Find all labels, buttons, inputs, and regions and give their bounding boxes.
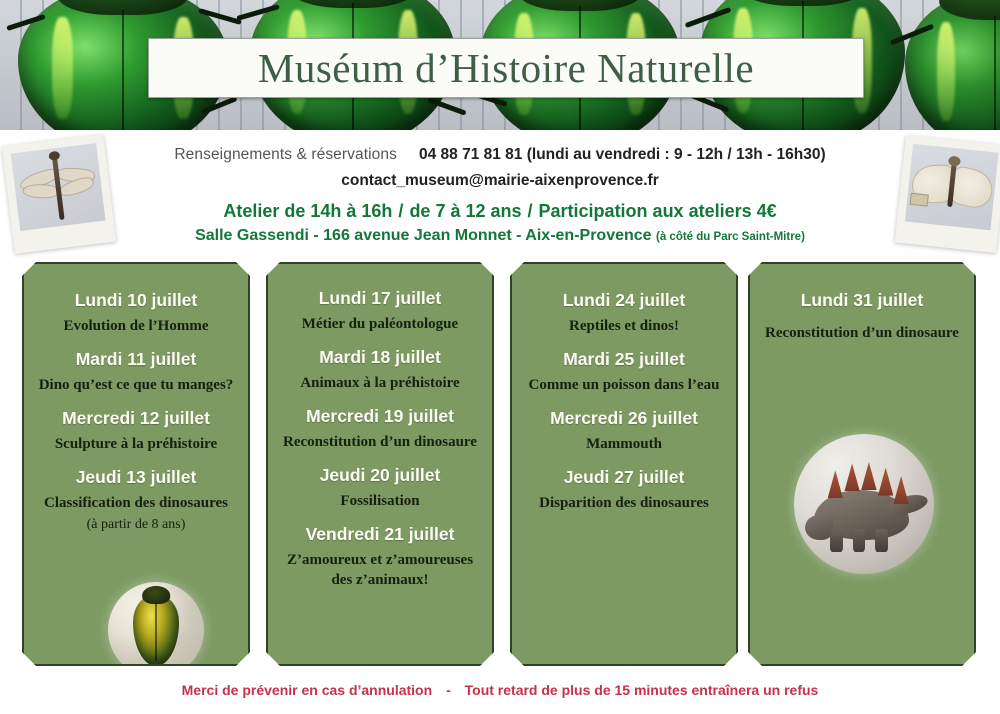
activity-text: Sculpture à la préhistoire	[34, 435, 238, 455]
activity-text: Reconstitution d’un dinosaure	[278, 433, 482, 453]
activity-text: Mammouth	[522, 435, 726, 455]
program-card-week1[interactable]: Lundi 10 juillet Evolution de l’Homme Ma…	[22, 262, 250, 666]
program-card-week2[interactable]: Lundi 17 juillet Métier du paléontologue…	[266, 262, 494, 666]
activity-text: Comme un poisson dans l’eau	[522, 376, 726, 396]
day-heading: Lundi 10 juillet	[34, 290, 238, 310]
workshop-price: Participation aux ateliers 4€	[539, 201, 777, 221]
activity-note: (à partir de 8 ans)	[34, 516, 238, 534]
golden-beetle-circle-photo	[108, 582, 204, 666]
dragonfly-head	[48, 151, 60, 161]
page-title: Muséum d’Histoire Naturelle	[258, 44, 754, 92]
activity-text: Disparition des dinosaures	[522, 494, 726, 514]
moth-photo	[905, 144, 999, 231]
address-note: (à côté du Parc Saint-Mitre)	[656, 231, 805, 243]
day-heading: Mercredi 19 juillet	[278, 406, 482, 426]
contact-line: Renseignements & réservations04 88 71 81…	[0, 146, 1000, 164]
day-heading: Jeudi 20 juillet	[278, 465, 482, 485]
specimen-label-tag	[910, 193, 929, 206]
day-heading: Mardi 25 juillet	[522, 349, 726, 369]
phone-hours: (lundi au vendredi : 9 - 12h / 13h - 16h…	[527, 146, 826, 163]
activity-text: Classification des dinosaures	[34, 494, 238, 514]
activity-text: Reconstitution d’un dinosaure	[760, 324, 964, 344]
activity-text: Reptiles et dinos!	[522, 317, 726, 337]
email-address[interactable]: contact_museum@mairie-aixenprovence.fr	[341, 172, 658, 189]
dragonfly-polaroid	[2, 134, 116, 254]
dinosaur-circle-photo	[794, 434, 934, 574]
dragonfly-photo	[11, 143, 106, 231]
workshop-details-line: Atelier de 14h à 16h/de 7 à 12 ans/Parti…	[0, 201, 1000, 222]
contact-label: Renseignements & réservations	[174, 146, 397, 163]
activity-text: Dino qu’est ce que tu manges?	[34, 376, 238, 396]
info-block: Renseignements & réservations04 88 71 81…	[0, 130, 1000, 260]
day-heading: Lundi 31 juillet	[760, 290, 964, 310]
program-card-week3[interactable]: Lundi 24 juillet Reptiles et dinos! Mard…	[510, 262, 738, 666]
moth-polaroid	[895, 135, 1000, 253]
footer-notice: Merci de prévenir en cas d’annulation - …	[0, 682, 1000, 698]
day-heading: Mercredi 12 juillet	[34, 408, 238, 428]
day-heading: Jeudi 13 juillet	[34, 467, 238, 487]
wing-shape	[22, 184, 59, 200]
address-line: Salle Gassendi - 166 avenue Jean Monnet …	[0, 227, 1000, 245]
age-range: de 7 à 12 ans	[409, 201, 521, 221]
footer-cancellation-text: Merci de prévenir en cas d’annulation	[182, 682, 433, 698]
program-card-week4[interactable]: Lundi 31 juillet Reconstitution d’un din…	[748, 262, 976, 666]
phone-number[interactable]: 04 88 71 81 81	[419, 146, 522, 163]
separator-2: /	[522, 201, 539, 221]
dinosaur-head	[805, 515, 833, 540]
day-heading: Mercredi 26 juillet	[522, 408, 726, 428]
day-heading: Vendredi 21 juillet	[278, 524, 482, 544]
day-heading: Mardi 11 juillet	[34, 349, 238, 369]
footer-separator: -	[436, 682, 461, 698]
moth-head	[948, 155, 961, 166]
activity-text: Evolution de l’Homme	[34, 317, 238, 337]
email-line: contact_museum@mairie-aixenprovence.fr	[0, 172, 1000, 190]
activity-text: Z’amoureux et z’amoureuses des z’animaux…	[278, 551, 482, 591]
activity-text: Fossilisation	[278, 492, 482, 512]
program-cards: Lundi 10 juillet Evolution de l’Homme Ma…	[0, 262, 1000, 674]
day-heading: Jeudi 27 juillet	[522, 467, 726, 487]
activity-text: Animaux à la préhistoire	[278, 374, 482, 394]
header-banner: Muséum d’Histoire Naturelle	[0, 0, 1000, 130]
day-heading: Mardi 18 juillet	[278, 347, 482, 367]
footer-lateness-text: Tout retard de plus de 15 minutes entraî…	[465, 682, 819, 698]
day-heading: Lundi 24 juillet	[522, 290, 726, 310]
page-title-band: Muséum d’Histoire Naturelle	[148, 38, 864, 98]
day-heading: Lundi 17 juillet	[278, 288, 482, 308]
separator-1: /	[392, 201, 409, 221]
workshop-time: Atelier de 14h à 16h	[223, 201, 392, 221]
activity-text: Métier du paléontologue	[278, 315, 482, 335]
address-text: Salle Gassendi - 166 avenue Jean Monnet …	[195, 227, 651, 244]
